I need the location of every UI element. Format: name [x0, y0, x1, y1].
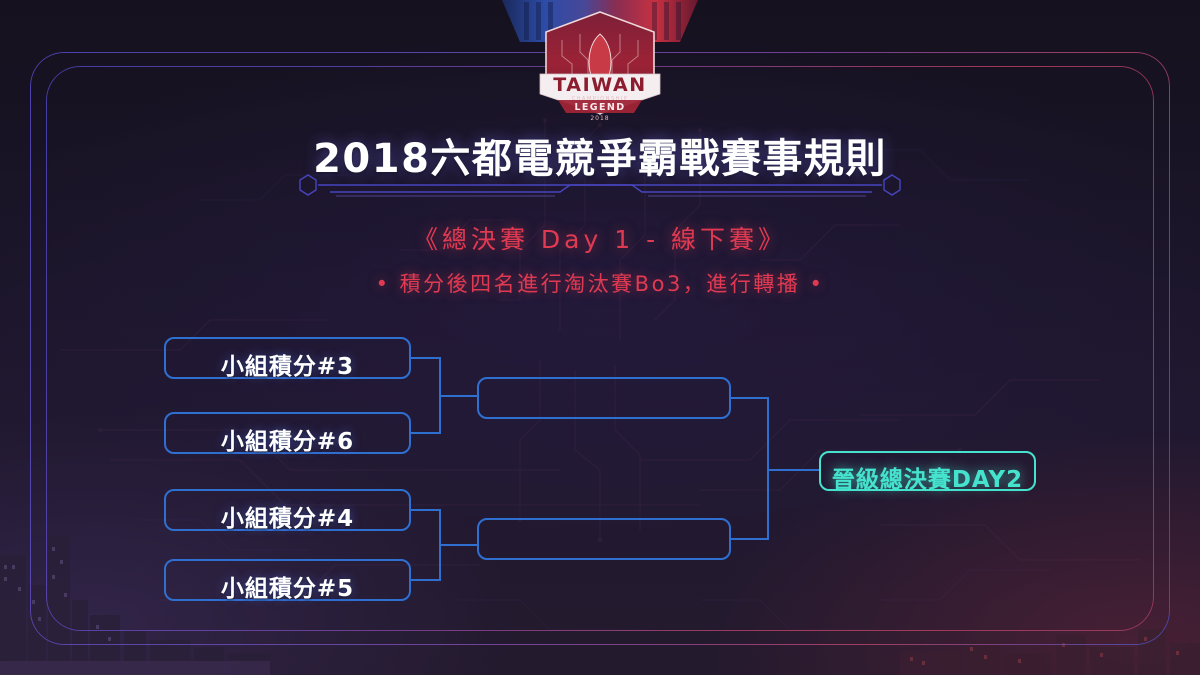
bracket-label-seed3: 小組積分#3 — [165, 347, 410, 381]
slide-canvas: TAIWAN CHAMPIONSHIP LEGEND 2018 2018六都電競… — [0, 0, 1200, 675]
connector-upper-pair — [410, 358, 440, 433]
bracket-label-seed4: 小組積分#4 — [165, 499, 410, 533]
connector-semis-to-final — [730, 398, 768, 539]
bracket-label-seed6: 小組積分#6 — [165, 422, 410, 456]
bracket-label-seed5: 小組積分#5 — [165, 569, 410, 603]
bracket-label-final: 晉級總決賽DAY2 — [820, 460, 1035, 494]
bracket-box-semi-lower — [478, 519, 730, 559]
bracket-box-semi-upper — [478, 378, 730, 418]
connector-lower-pair — [410, 510, 440, 580]
